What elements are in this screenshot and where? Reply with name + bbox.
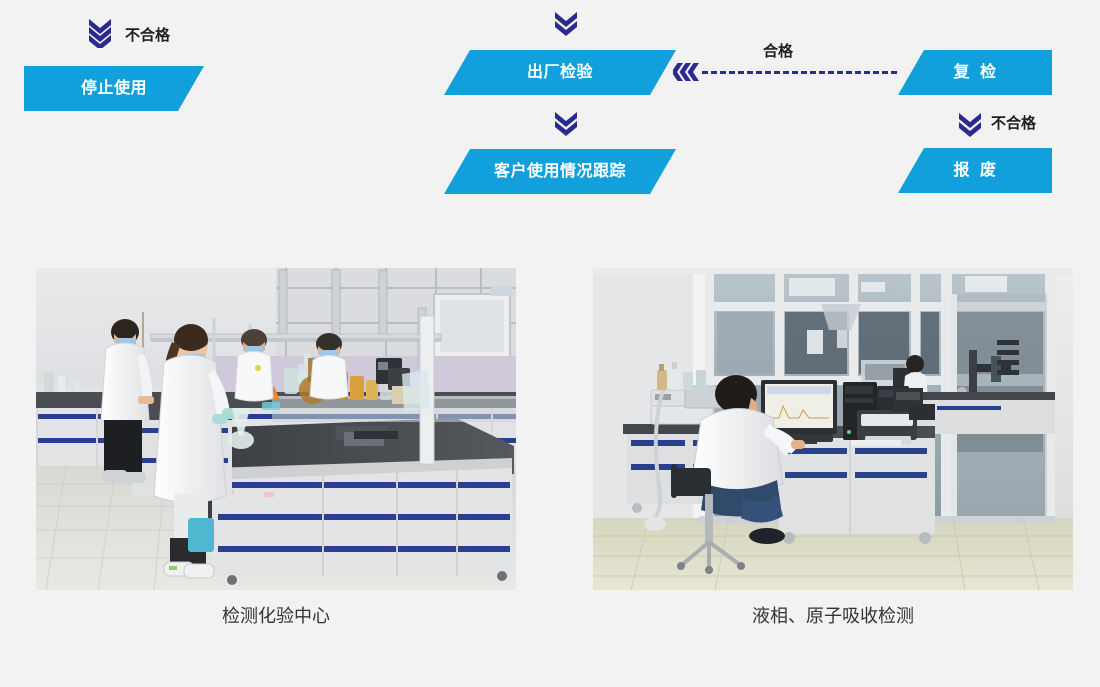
node-scrap[interactable]: 报 废 xyxy=(898,148,1052,193)
process-flow-diagram: 不合格 停止使用 出厂检验 合格 复 检 xyxy=(0,0,1100,230)
caption-lab-testing-center: 检测化验中心 xyxy=(36,607,516,625)
photo-hplc-aas-testing xyxy=(593,268,1073,590)
node-recheck[interactable]: 复 检 xyxy=(898,50,1052,95)
label-fail-right: 不合格 xyxy=(991,116,1036,131)
chevron-down-icon xyxy=(553,110,579,136)
dashed-connector-recheck-to-inspection xyxy=(702,71,897,74)
node-stop-use[interactable]: 停止使用 xyxy=(24,66,204,111)
chevron-down-icon xyxy=(86,18,114,48)
arrow-left-icon xyxy=(673,62,703,82)
chevron-down-icon xyxy=(553,10,579,36)
chevron-down-icon xyxy=(957,111,983,137)
node-factory-inspection[interactable]: 出厂检验 xyxy=(444,50,676,95)
label-pass: 合格 xyxy=(763,44,793,59)
caption-hplc-aas-testing: 液相、原子吸收检测 xyxy=(593,607,1073,625)
label-fail-left: 不合格 xyxy=(125,28,170,43)
node-customer-usage-tracking[interactable]: 客户使用情况跟踪 xyxy=(444,149,676,194)
photo-lab-testing-center xyxy=(36,268,516,590)
